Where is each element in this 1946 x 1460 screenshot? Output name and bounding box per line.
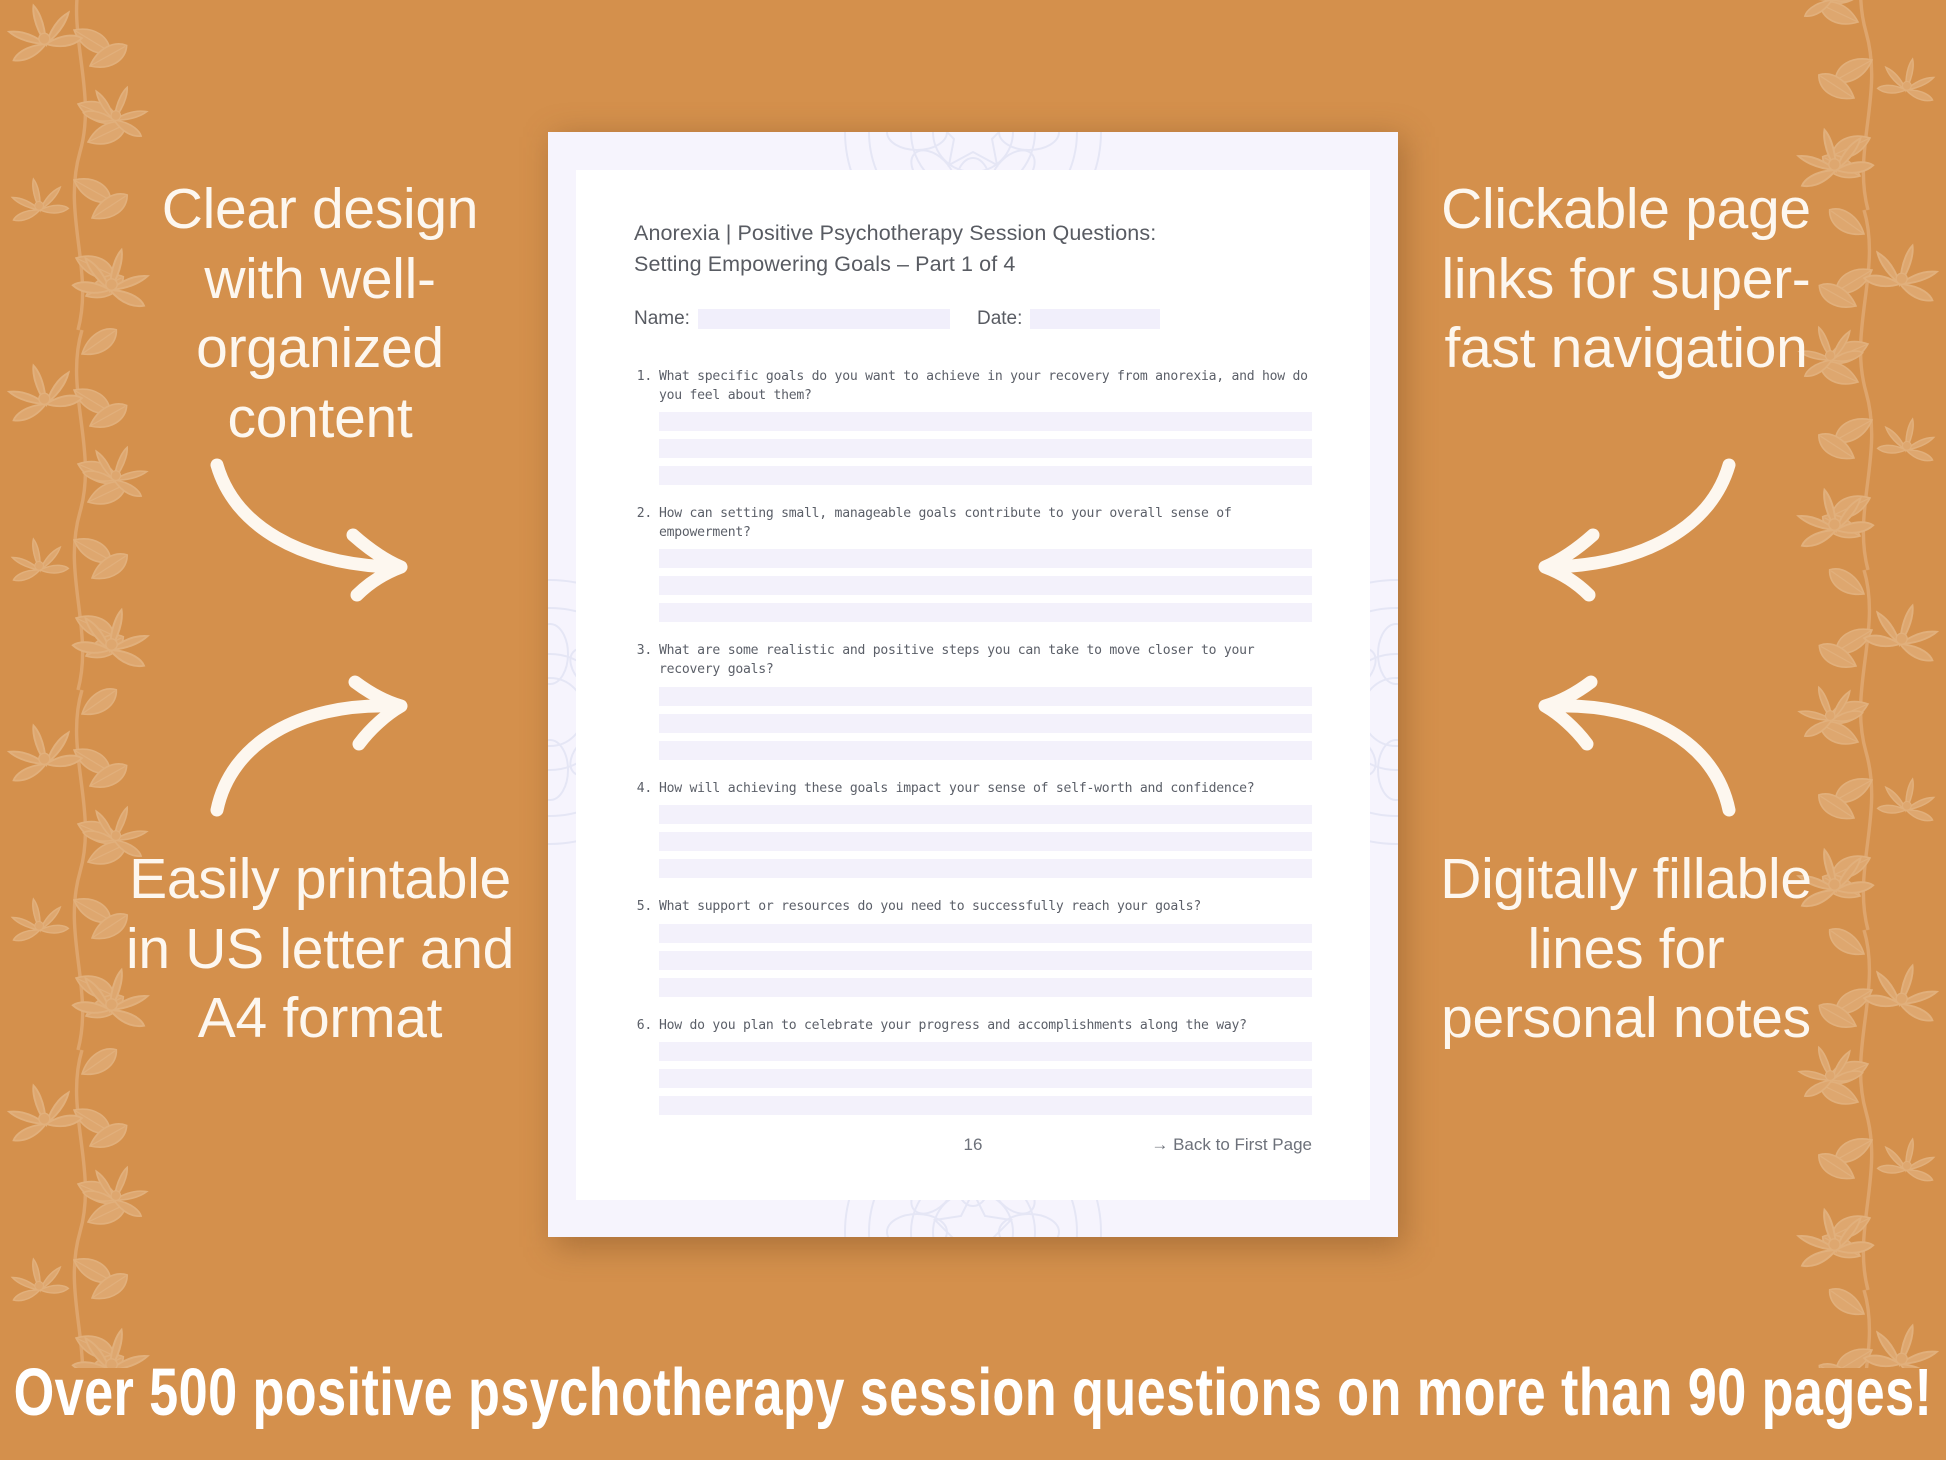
callout-column-right: Clickable page links for super-fast navi… xyxy=(1416,0,1836,1368)
answer-line[interactable] xyxy=(659,714,1312,733)
callout-fillable-lines: Digitally fillable lines for personal no… xyxy=(1416,845,1836,1054)
question-item: 4. How will achieving these goals impact… xyxy=(634,780,1312,879)
answer-line[interactable] xyxy=(659,924,1312,943)
answer-lines xyxy=(659,1042,1312,1115)
answer-line[interactable] xyxy=(659,951,1312,970)
date-input[interactable] xyxy=(1030,309,1160,329)
question-number: 4. xyxy=(634,780,659,799)
question-number: 1. xyxy=(634,368,659,405)
answer-line[interactable] xyxy=(659,1042,1312,1061)
question-text-row: 5. What support or resources do you need… xyxy=(634,898,1312,917)
curved-arrow-left-up-icon xyxy=(1416,680,1836,830)
question-body: What are some realistic and positive ste… xyxy=(659,642,1312,679)
answer-line[interactable] xyxy=(659,832,1312,851)
answer-lines xyxy=(659,924,1312,997)
callout-clickable-links: Clickable page links for super-fast navi… xyxy=(1416,175,1836,384)
date-label: Date: xyxy=(977,308,1022,330)
bottom-banner-text: Over 500 positive psychotherapy session … xyxy=(14,1354,1933,1431)
worksheet-page[interactable]: Anorexia | Positive Psychotherapy Sessio… xyxy=(548,132,1398,1237)
bottom-banner: Over 500 positive psychotherapy session … xyxy=(0,1325,1946,1460)
curved-arrow-right-up-icon xyxy=(110,680,530,830)
answer-line[interactable] xyxy=(659,412,1312,431)
question-item: 3. What are some realistic and positive … xyxy=(634,642,1312,759)
question-item: 1. What specific goals do you want to ac… xyxy=(634,368,1312,485)
answer-line[interactable] xyxy=(659,603,1312,622)
answer-line[interactable] xyxy=(659,576,1312,595)
page-title: Anorexia | Positive Psychotherapy Sessio… xyxy=(634,218,1312,279)
callout-clear-design: Clear design with well-organized content xyxy=(110,175,530,453)
name-label: Name: xyxy=(634,308,690,330)
questions-list: 1. What specific goals do you want to ac… xyxy=(634,368,1312,1115)
question-text-row: 3. What are some realistic and positive … xyxy=(634,642,1312,679)
page-title-line-2: Setting Empowering Goals – Part 1 of 4 xyxy=(634,249,1312,280)
answer-line[interactable] xyxy=(659,1069,1312,1088)
page-footer: 16 → Back to First Page xyxy=(634,1135,1312,1155)
name-date-row: Name: Date: xyxy=(634,308,1312,330)
callout-easily-printable: Easily printable in US letter and A4 for… xyxy=(110,845,530,1054)
answer-lines xyxy=(659,805,1312,878)
answer-line[interactable] xyxy=(659,741,1312,760)
question-body: How do you plan to celebrate your progre… xyxy=(659,1017,1312,1036)
answer-line[interactable] xyxy=(659,687,1312,706)
question-item: 6. How do you plan to celebrate your pro… xyxy=(634,1017,1312,1116)
answer-lines xyxy=(659,687,1312,760)
question-body: How can setting small, manageable goals … xyxy=(659,505,1312,542)
question-text-row: 4. How will achieving these goals impact… xyxy=(634,780,1312,799)
page-title-line-1: Anorexia | Positive Psychotherapy Sessio… xyxy=(634,218,1312,249)
answer-line[interactable] xyxy=(659,439,1312,458)
question-text-row: 1. What specific goals do you want to ac… xyxy=(634,368,1312,405)
page-number: 16 xyxy=(964,1135,983,1155)
answer-line[interactable] xyxy=(659,805,1312,824)
question-number: 6. xyxy=(634,1017,659,1036)
answer-lines xyxy=(659,412,1312,485)
worksheet-content: Anorexia | Positive Psychotherapy Sessio… xyxy=(576,170,1370,1200)
curved-arrow-left-down-icon xyxy=(1416,455,1836,605)
question-number: 5. xyxy=(634,898,659,917)
answer-line[interactable] xyxy=(659,859,1312,878)
question-number: 3. xyxy=(634,642,659,679)
curved-arrow-right-down-icon xyxy=(110,455,530,605)
answer-line[interactable] xyxy=(659,466,1312,485)
question-number: 2. xyxy=(634,505,659,542)
name-input[interactable] xyxy=(698,309,950,329)
callout-column-left: Clear design with well-organized content… xyxy=(110,0,530,1368)
answer-line[interactable] xyxy=(659,1096,1312,1115)
question-body: How will achieving these goals impact yo… xyxy=(659,780,1312,799)
answer-line[interactable] xyxy=(659,978,1312,997)
question-item: 2. How can setting small, manageable goa… xyxy=(634,505,1312,622)
question-text-row: 6. How do you plan to celebrate your pro… xyxy=(634,1017,1312,1036)
back-to-first-page-link[interactable]: → Back to First Page xyxy=(1151,1135,1312,1155)
question-body: What support or resources do you need to… xyxy=(659,898,1312,917)
question-item: 5. What support or resources do you need… xyxy=(634,898,1312,997)
answer-lines xyxy=(659,549,1312,622)
question-text-row: 2. How can setting small, manageable goa… xyxy=(634,505,1312,542)
answer-line[interactable] xyxy=(659,549,1312,568)
question-body: What specific goals do you want to achie… xyxy=(659,368,1312,405)
